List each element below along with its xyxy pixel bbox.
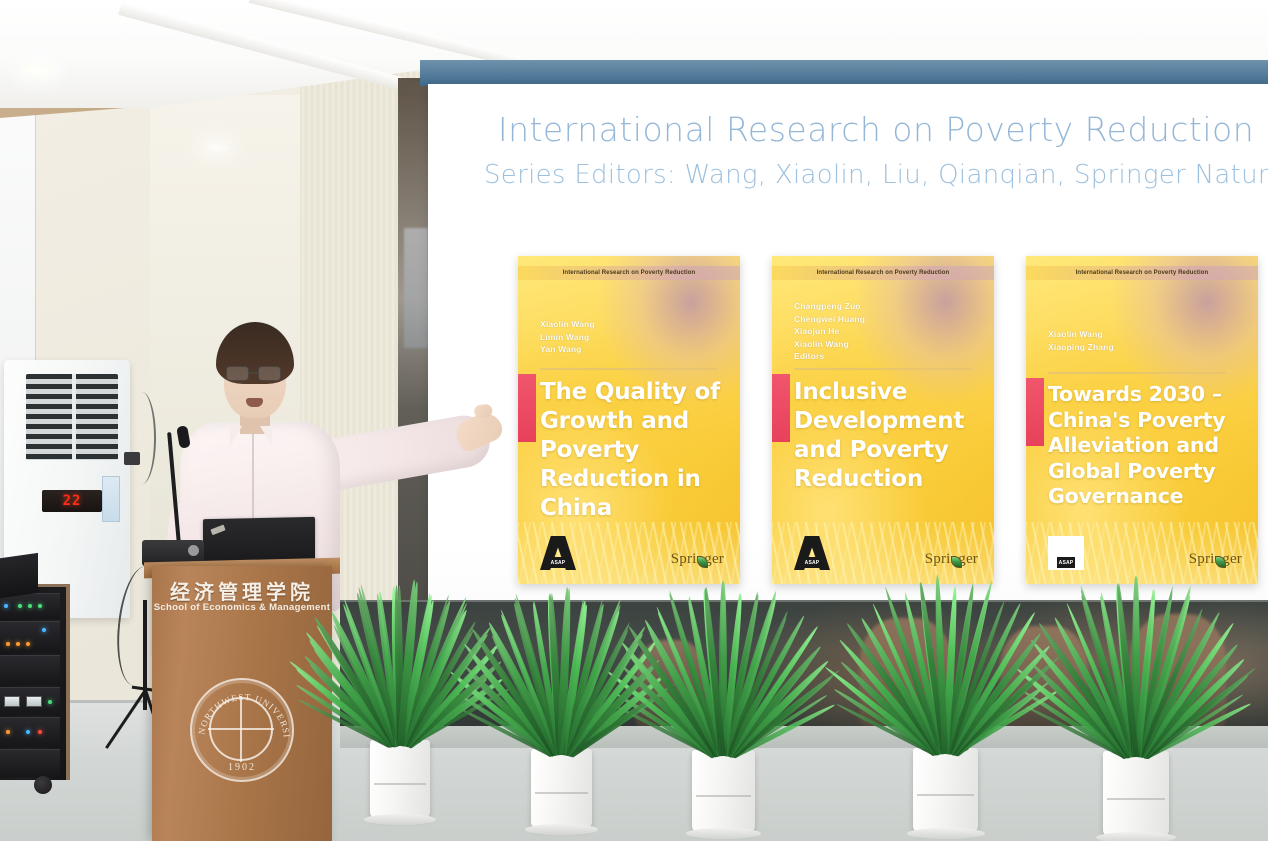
book-series-header: International Research on Poverty Reduct… [772,266,994,280]
presenter-mouth [246,398,263,407]
author-name: Xiaolin Wang [1048,328,1218,341]
book-authors: Xiaolin Wang Limin Wang Yan Wang [540,318,710,356]
editors-suffix: Editors [794,350,964,363]
air-conditioner-grille-icon [26,374,118,460]
status-led-icon [42,628,46,632]
author-name: Chengwei Huang [794,313,964,326]
university-seal-year: 1902 [192,762,292,773]
rack-display-icon [4,696,20,707]
plant-saucer [525,824,598,835]
glasses-icon [258,366,281,381]
book-title: Inclusive Development and Poverty Reduct… [794,378,984,494]
rack-unit[interactable] [0,687,60,715]
author-name: Changpeng Zuo [794,300,964,313]
book-cover: International Research on Poverty Reduct… [772,256,994,584]
plant-foliage [880,584,1010,754]
status-led-icon [28,604,32,608]
glasses-icon [226,366,249,381]
springer-logo: Springer [925,551,978,568]
screen-top-trim [420,60,1268,86]
author-name: Yan Wang [540,343,710,356]
rack-caster-wheel [34,776,52,794]
air-conditioner-temperature: 22 [63,493,82,509]
book-authors: Changpeng Zuo Chengwei Huang Xiaojun He … [794,300,964,363]
plant-pot [531,749,592,828]
status-led-icon [6,730,10,734]
podium-name-cn: 经济管理学院 [152,576,332,605]
university-seal: NORTHWEST UNIVERSITY XI'AN CHINA 1902 [190,678,294,782]
av-equipment-rack[interactable] [0,584,70,780]
presentation-slide: International Research on Poverty Reduct… [428,84,1268,604]
book-divider-rule [1048,372,1226,374]
book-accent-tab [1026,378,1044,446]
rack-display-icon [26,696,42,707]
potted-plant [1070,586,1202,836]
rack-unit[interactable] [0,717,60,747]
springer-logo: Springer [671,551,724,568]
author-name: Limin Wang [540,331,710,344]
rack-unit[interactable] [0,749,60,777]
air-conditioner-display: 22 [42,490,102,512]
status-led-icon [48,700,52,704]
plant-pot [692,750,755,832]
slide-subtitle: Series Editors: Wang, Xiaolin, Liu, Qian… [484,160,1268,190]
plant-pot [1103,751,1169,836]
book-authors: Xiaolin Wang Xiaoping Zhang [1048,328,1218,353]
status-led-icon [4,604,8,608]
status-led-icon [6,642,10,646]
plant-foliage [1070,586,1202,757]
potted-plant [500,596,622,828]
book-divider-rule [540,368,718,370]
book-title: Towards 2030 – China's Poverty Alleviati… [1048,382,1244,510]
status-led-icon [38,604,42,608]
potted-plant [340,588,460,818]
asap-logo-box: ASAP [540,536,576,570]
university-seal-cross [208,728,274,730]
book-cover-row: International Research on Poverty Reduct… [518,256,1258,586]
author-name: Xiaolin Wang [540,318,710,331]
potted-plant [880,584,1010,832]
lecture-hall-photo: International Research on Poverty Reduct… [0,0,1268,841]
status-led-icon [18,604,22,608]
plant-saucer [364,814,436,825]
book-cover: International Research on Poverty Reduct… [518,256,740,584]
plant-pot [370,740,430,818]
book-title: The Quality of Growth and Poverty Reduct… [540,378,730,523]
floor-monitor-speaker [0,553,38,599]
asap-logo-box: ASAP [1048,536,1084,570]
podium-name-en: School of Economics & Management [152,602,332,613]
potted-plant [660,590,786,832]
status-led-icon [38,730,42,734]
asap-logo-box: ASAP [794,536,830,570]
plant-pot [913,748,978,832]
author-name: Xiaoping Zhang [1048,341,1218,354]
book-cover: International Research on Poverty Reduct… [1026,256,1258,584]
author-name-editors: Xiaolin Wang [794,338,964,351]
plant-foliage [340,588,460,746]
plant-foliage [660,590,786,756]
book-series-header-text: International Research on Poverty Reduct… [817,270,950,276]
status-led-icon [26,642,30,646]
book-series-header-text: International Research on Poverty Reduct… [1076,270,1209,276]
rack-unit[interactable] [0,655,60,685]
shirt-collar-right [260,426,272,446]
slide-title: International Research on Poverty Reduct… [484,110,1268,149]
book-accent-tab [772,374,790,442]
plant-saucer [686,828,762,839]
book-series-header-text: International Research on Poverty Reduct… [563,270,696,276]
plant-saucer [1096,832,1175,841]
book-series-header: International Research on Poverty Reduct… [518,266,740,280]
microphone-knob-icon[interactable] [188,545,199,556]
glasses-bridge [249,372,258,374]
status-led-icon [16,642,20,646]
ceiling-downlight-icon [20,62,56,78]
plant-foliage [500,596,622,755]
author-name: Xiaojun He [794,325,964,338]
shirt-collar-left [230,426,242,446]
plant-saucer [907,828,985,839]
rack-unit[interactable] [0,621,60,653]
status-led-icon [26,730,30,734]
book-accent-tab [518,374,536,442]
springer-logo: Springer [1189,551,1242,568]
projection-screen[interactable]: International Research on Poverty Reduct… [428,84,1268,604]
ceiling-downlight-icon [204,142,230,153]
book-series-header: International Research on Poverty Reduct… [1026,266,1258,280]
book-divider-rule [794,368,972,370]
